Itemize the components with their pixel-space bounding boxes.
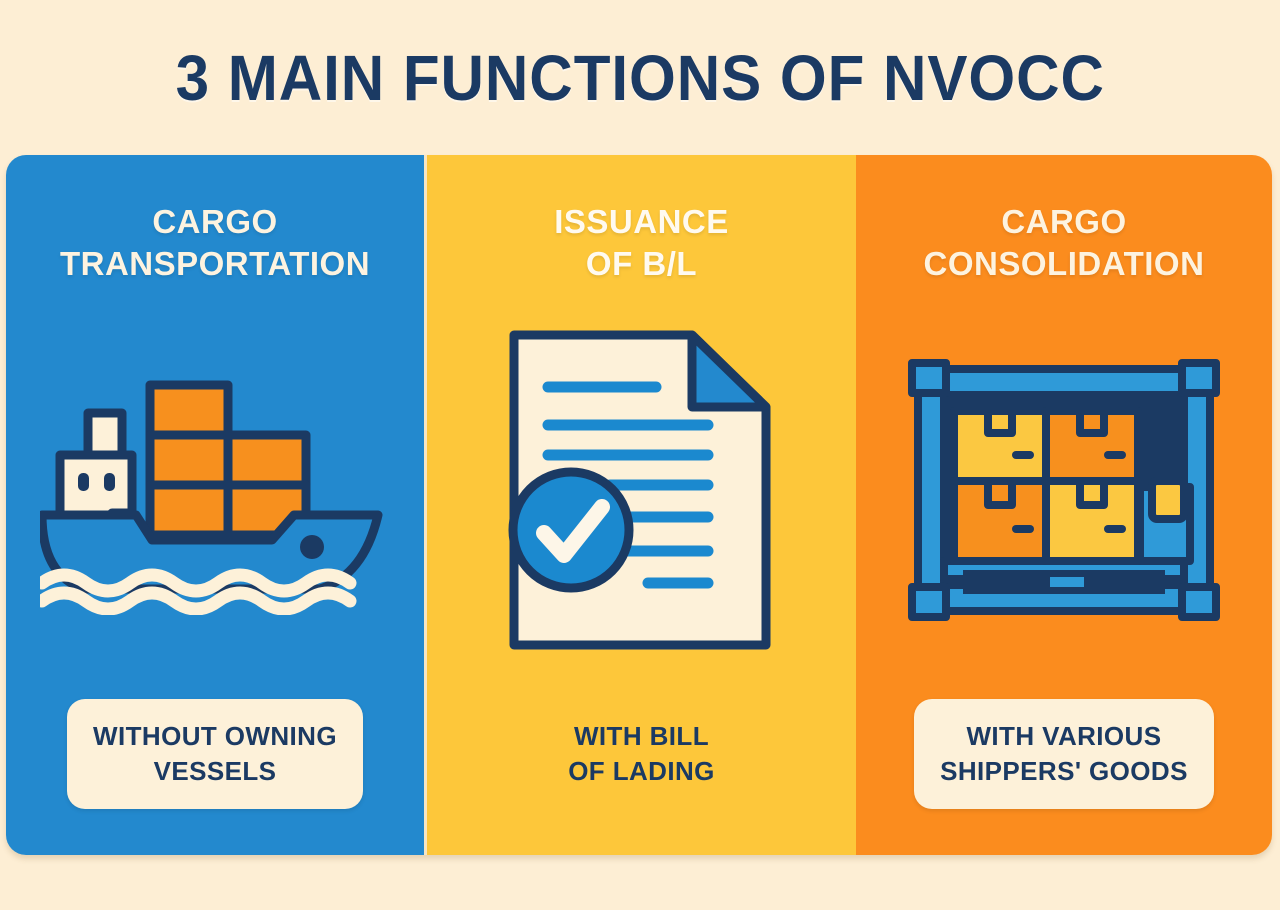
caption-line-2: VESSELS (93, 754, 337, 789)
panel-heading-line-2: CONSOLIDATION (924, 243, 1205, 285)
caption-line-1: WITH BILL (568, 719, 715, 754)
panel-cargo-consolidation[interactable]: CARGO CONSOLIDATION (856, 155, 1272, 855)
panel-heading-cargo-transportation: CARGO TRANSPORTATION (46, 201, 384, 285)
caption-line-1: WITHOUT OWNING (93, 719, 337, 754)
panels-container: CARGO TRANSPORTATION (6, 155, 1272, 855)
shipping-container-boxes-icon (904, 355, 1224, 630)
icon-area-document-check (427, 285, 856, 698)
panel-heading-issuance-of-bl: ISSUANCE OF B/L (540, 201, 743, 285)
caption-with-various-shippers-goods: WITH VARIOUS SHIPPERS' GOODS (914, 699, 1214, 809)
caption-line-2: SHIPPERS' GOODS (940, 754, 1188, 789)
icon-area-shipping-container (856, 285, 1272, 698)
infographic-page: 3 MAIN FUNCTIONS OF NVOCC CARGO TRANSPOR… (0, 0, 1280, 910)
document-check-icon (496, 325, 786, 660)
panel-heading-line-1: ISSUANCE (554, 201, 729, 243)
panel-heading-cargo-consolidation: CARGO CONSOLIDATION (910, 201, 1219, 285)
caption-line-2: OF LADING (568, 754, 715, 789)
panel-issuance-of-bl[interactable]: ISSUANCE OF B/L (424, 155, 856, 855)
caption-with-bill-of-lading: WITH BILL OF LADING (542, 699, 741, 809)
title-bar: 3 MAIN FUNCTIONS OF NVOCC (0, 0, 1280, 155)
panel-heading-line-1: CARGO (60, 201, 370, 243)
panel-cargo-transportation[interactable]: CARGO TRANSPORTATION (6, 155, 424, 855)
cargo-ship-icon (40, 365, 390, 620)
panel-heading-line-2: TRANSPORTATION (60, 243, 370, 285)
panel-heading-line-2: OF B/L (554, 243, 729, 285)
page-title: 3 MAIN FUNCTIONS OF NVOCC (175, 41, 1104, 115)
check-badge (513, 472, 629, 588)
icon-area-cargo-ship (6, 285, 424, 698)
panel-heading-line-1: CARGO (924, 201, 1205, 243)
caption-without-owning-vessels: WITHOUT OWNING VESSELS (67, 699, 363, 809)
caption-line-1: WITH VARIOUS (940, 719, 1188, 754)
